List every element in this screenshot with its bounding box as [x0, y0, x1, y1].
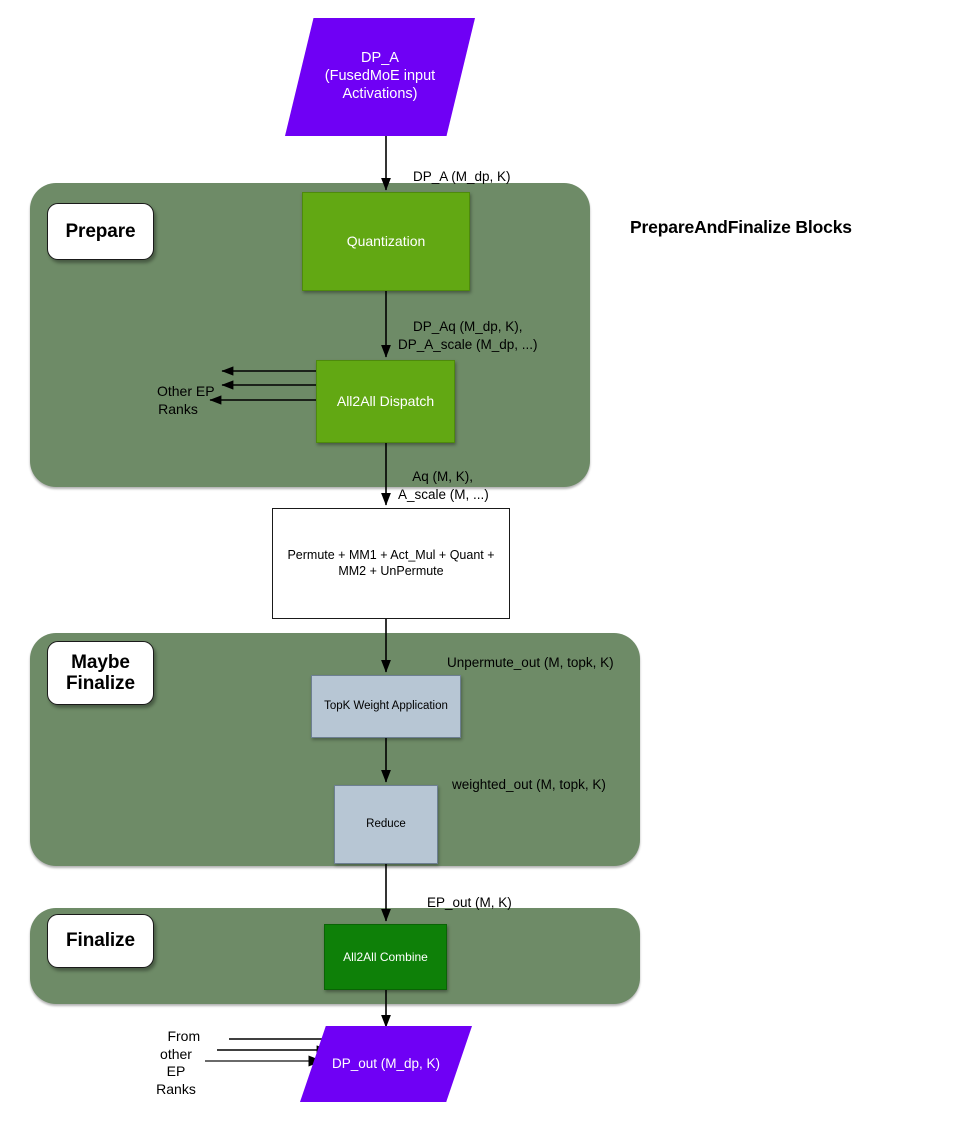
node-reduce-label: Reduce [366, 817, 406, 831]
edge-label-weighted-out: weighted_out (M, topk, K) [437, 758, 606, 812]
edge-label-dp-a-text: DP_A (M_dp, K) [413, 169, 511, 184]
group-label-prepare: Prepare [47, 203, 154, 260]
edge-label-aq-text: Aq (M, K), A_scale (M, ...) [398, 469, 489, 502]
edge-label-aq: Aq (M, K), A_scale (M, ...) [398, 450, 489, 522]
group-label-finalize-text: Finalize [66, 930, 135, 951]
node-dp-out-label: DP_out (M_dp, K) [332, 1056, 440, 1073]
group-label-maybe-finalize: Maybe Finalize [47, 641, 154, 705]
edge-label-unpermute-out-text: Unpermute_out (M, topk, K) [447, 655, 614, 670]
side-label-from-other-ep-ranks-text: From other EP Ranks [156, 1028, 200, 1097]
edge-label-dp-aq-text: DP_Aq (M_dp, K), DP_A_scale (M_dp, ...) [398, 319, 538, 352]
edge-label-ep-out-text: EP_out (M, K) [427, 895, 512, 910]
node-topk-weight-application-label: TopK Weight Application [324, 699, 448, 713]
node-all2all-combine-label: All2All Combine [343, 950, 428, 965]
node-all2all-combine[interactable]: All2All Combine [324, 924, 447, 990]
node-dp-a-input-label: DP_A (FusedMoE input Activations) [325, 50, 435, 104]
node-reduce[interactable]: Reduce [334, 785, 438, 864]
side-label-from-other-ep-ranks: From other EP Ranks [145, 1010, 207, 1117]
node-expert-compute-label: Permute + MM1 + Act_Mul + Quant + MM2 + … [287, 548, 494, 579]
side-label-other-ep-ranks-text: Other EP Ranks [157, 383, 215, 417]
group-label-finalize: Finalize [47, 914, 154, 968]
node-dp-out[interactable]: DP_out (M_dp, K) [300, 1026, 472, 1102]
node-all2all-dispatch-label: All2All Dispatch [337, 393, 434, 410]
edge-label-dp-aq: DP_Aq (M_dp, K), DP_A_scale (M_dp, ...) [398, 300, 538, 372]
group-label-prepare-text: Prepare [65, 221, 135, 242]
node-all2all-dispatch[interactable]: All2All Dispatch [316, 360, 455, 443]
diagram-title: PrepareAndFinalize Blocks [630, 217, 852, 238]
edge-label-dp-a: DP_A (M_dp, K) [398, 150, 511, 204]
edge-label-unpermute-out: Unpermute_out (M, topk, K) [432, 636, 614, 690]
group-label-maybe-finalize-text: Maybe Finalize [66, 652, 135, 695]
node-quantization-label: Quantization [347, 233, 426, 250]
edge-label-weighted-out-text: weighted_out (M, topk, K) [452, 777, 606, 792]
node-dp-a-input[interactable]: DP_A (FusedMoE input Activations) [285, 18, 475, 136]
node-expert-compute[interactable]: Permute + MM1 + Act_Mul + Quant + MM2 + … [272, 508, 510, 619]
side-label-other-ep-ranks: Other EP Ranks [133, 365, 223, 436]
diagram-canvas: Prepare Maybe Finalize Finalize DP_A (Fu… [0, 0, 971, 1121]
diagram-title-text: PrepareAndFinalize Blocks [630, 217, 852, 237]
edge-label-ep-out: EP_out (M, K) [412, 876, 512, 930]
node-quantization[interactable]: Quantization [302, 192, 470, 291]
